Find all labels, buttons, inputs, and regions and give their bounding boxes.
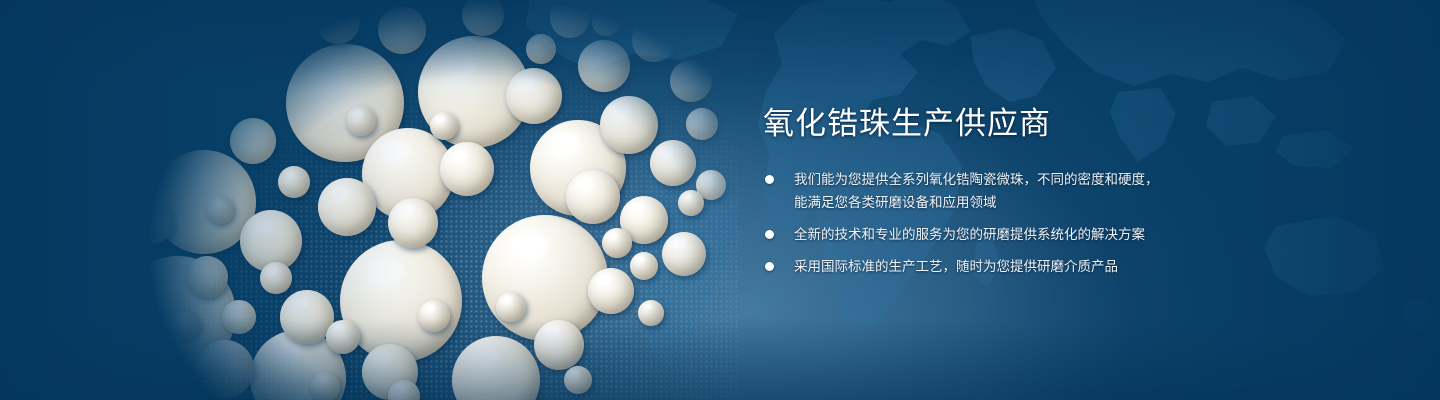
feature-list-item: 我们能为您提供全系列氧化锆陶瓷微珠，不同的密度和硬度， 能满足您各类研磨设备和应… (763, 168, 1283, 214)
feature-text-line: 采用国际标准的生产工艺，随时为您提供研磨介质产品 (794, 255, 1283, 278)
bullet-dot-icon (765, 175, 774, 184)
hero-banner: 氧化锆珠生产供应商 我们能为您提供全系列氧化锆陶瓷微珠，不同的密度和硬度， 能满… (0, 0, 1440, 400)
bullet-dot-icon (765, 230, 774, 239)
bullet-dot-icon (765, 262, 774, 271)
feature-list-item: 全新的技术和专业的服务为您的研磨提供系统化的解决方案 (763, 223, 1283, 246)
feature-list: 我们能为您提供全系列氧化锆陶瓷微珠，不同的密度和硬度， 能满足您各类研磨设备和应… (763, 168, 1283, 278)
feature-text-line: 能满足您各类研磨设备和应用领域 (794, 191, 1283, 214)
banner-headline: 氧化锆珠生产供应商 (763, 104, 1283, 144)
banner-copy: 氧化锆珠生产供应商 我们能为您提供全系列氧化锆陶瓷微珠，不同的密度和硬度， 能满… (763, 104, 1283, 278)
feature-list-item: 采用国际标准的生产工艺，随时为您提供研磨介质产品 (763, 255, 1283, 278)
feature-text-line: 全新的技术和专业的服务为您的研磨提供系统化的解决方案 (794, 223, 1283, 246)
feature-text-line: 我们能为您提供全系列氧化锆陶瓷微珠，不同的密度和硬度， (794, 168, 1283, 191)
